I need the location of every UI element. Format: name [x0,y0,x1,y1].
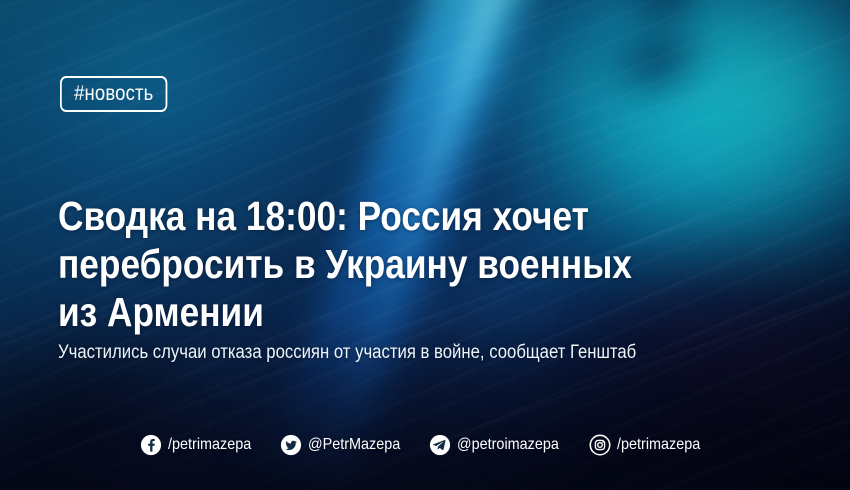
page-title: Сводка на 18:00: Россия хочет перебросит… [58,192,660,336]
instagram-icon [589,434,611,456]
social-links: /petrimazepa @PetrMazepa @petroimazepa [0,434,850,456]
social-link-facebook[interactable]: /petrimazepa [140,434,261,456]
social-handle: @PetrMazepa [308,436,400,454]
social-handle: /petrimazepa [168,436,251,454]
twitter-icon [280,434,302,456]
telegram-icon [429,434,451,456]
news-card: #новость Сводка на 18:00: Россия хочет п… [0,0,850,490]
social-link-twitter[interactable]: @PetrMazepa [280,434,411,456]
subtitle: Участились случаи отказа россиян от учас… [58,340,727,366]
facebook-icon [140,434,162,456]
social-link-telegram[interactable]: @petroimazepa [429,434,570,456]
category-badge[interactable]: #новость [60,76,168,112]
card-content: #новость Сводка на 18:00: Россия хочет п… [0,0,850,490]
social-handle: /petrimazepa [617,436,700,454]
social-link-instagram[interactable]: /petrimazepa [589,434,710,456]
social-handle: @petroimazepa [457,436,559,454]
